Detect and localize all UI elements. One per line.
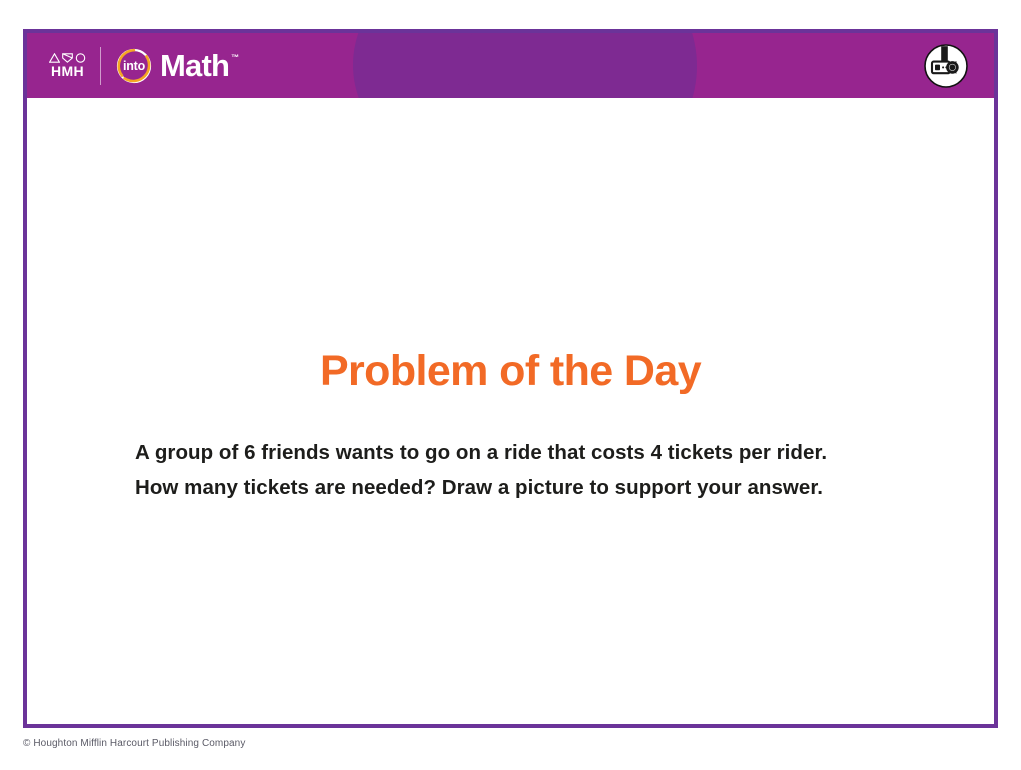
math-wordmark: Math xyxy=(160,50,229,82)
problem-statement: A group of 6 friends wants to go on a ri… xyxy=(135,435,847,505)
header-decoration-circle-right xyxy=(467,33,697,98)
brand-logo-lockup[interactable]: HMH into Math ™ xyxy=(49,33,239,98)
into-badge: into xyxy=(115,47,153,85)
hmh-publisher-logo[interactable]: HMH xyxy=(49,52,100,79)
triangle-icon xyxy=(49,53,60,63)
slide-frame: HMH into Math ™ xyxy=(23,29,998,728)
page-title: Problem of the Day xyxy=(27,345,994,397)
video-button[interactable] xyxy=(924,44,968,88)
math-wordmark-wrap: Math ™ xyxy=(160,50,239,82)
header-decoration-circle-left xyxy=(353,33,549,98)
trademark-symbol: ™ xyxy=(231,52,239,64)
flag-icon xyxy=(62,53,73,63)
hmh-wordmark: HMH xyxy=(51,64,84,79)
circle-icon xyxy=(75,53,86,63)
into-math-logo[interactable]: into Math ™ xyxy=(101,47,239,85)
into-badge-label: into xyxy=(115,47,153,85)
app-header: HMH into Math ™ xyxy=(27,33,994,98)
slide-content-area: Problem of the Day A group of 6 friends … xyxy=(27,98,994,724)
hmh-glyph-row xyxy=(49,52,86,63)
video-camera-icon[interactable] xyxy=(924,44,968,88)
copyright-notice: © Houghton Mifflin Harcourt Publishing C… xyxy=(23,738,245,750)
